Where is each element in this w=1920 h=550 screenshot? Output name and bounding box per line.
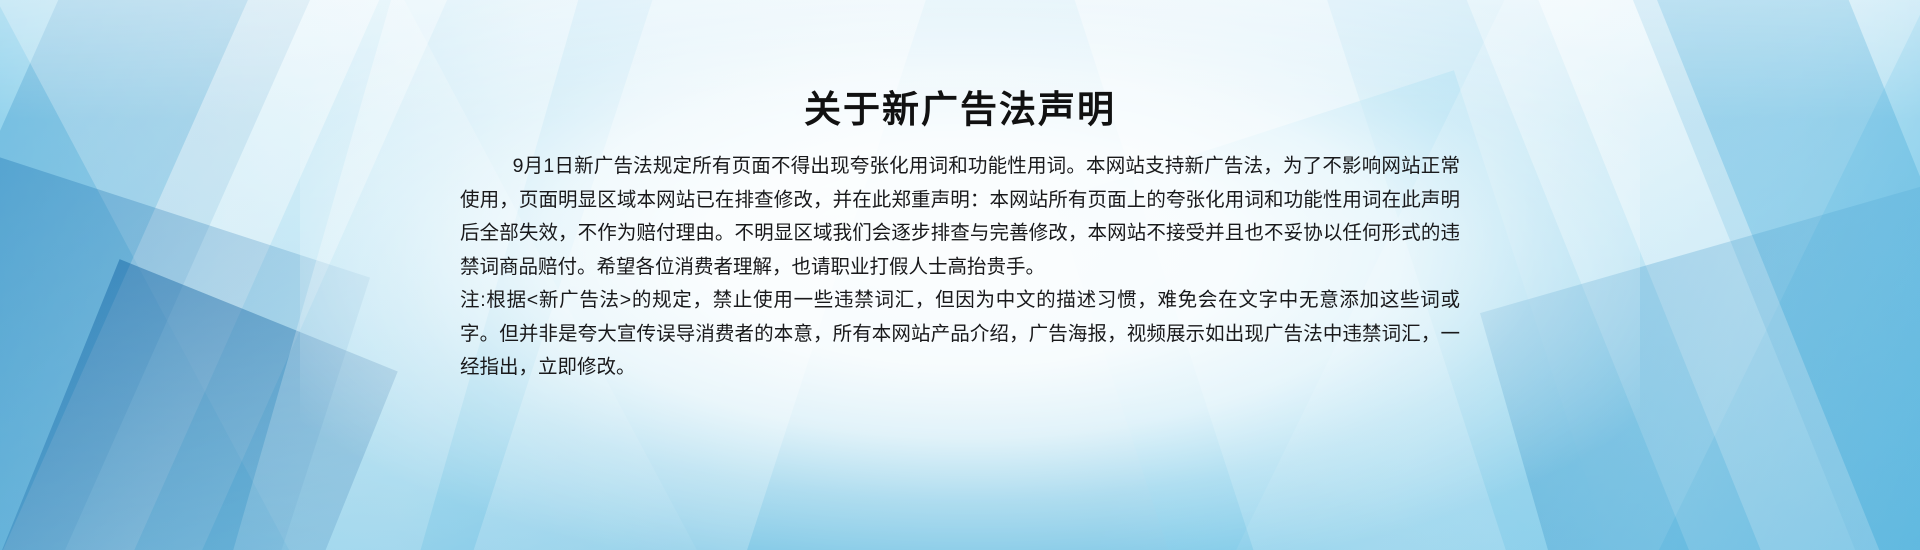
advertising-law-statement-banner: 关于新广告法声明 9月1日新广告法规定所有页面不得出现夸张化用词和功能性用词。本… [0, 0, 1920, 550]
statement-paragraph-1: 9月1日新广告法规定所有页面不得出现夸张化用词和功能性用词。本网站支持新广告法，… [460, 150, 1460, 284]
statement-content: 关于新广告法声明 9月1日新广告法规定所有页面不得出现夸张化用词和功能性用词。本… [0, 0, 1920, 385]
statement-paragraph-2: 注:根据<新广告法>的规定，禁止使用一些违禁词汇，但因为中文的描述习惯，难免会在… [460, 284, 1460, 385]
statement-body: 9月1日新广告法规定所有页面不得出现夸张化用词和功能性用词。本网站支持新广告法，… [460, 150, 1460, 385]
page-title: 关于新广告法声明 [0, 0, 1920, 132]
